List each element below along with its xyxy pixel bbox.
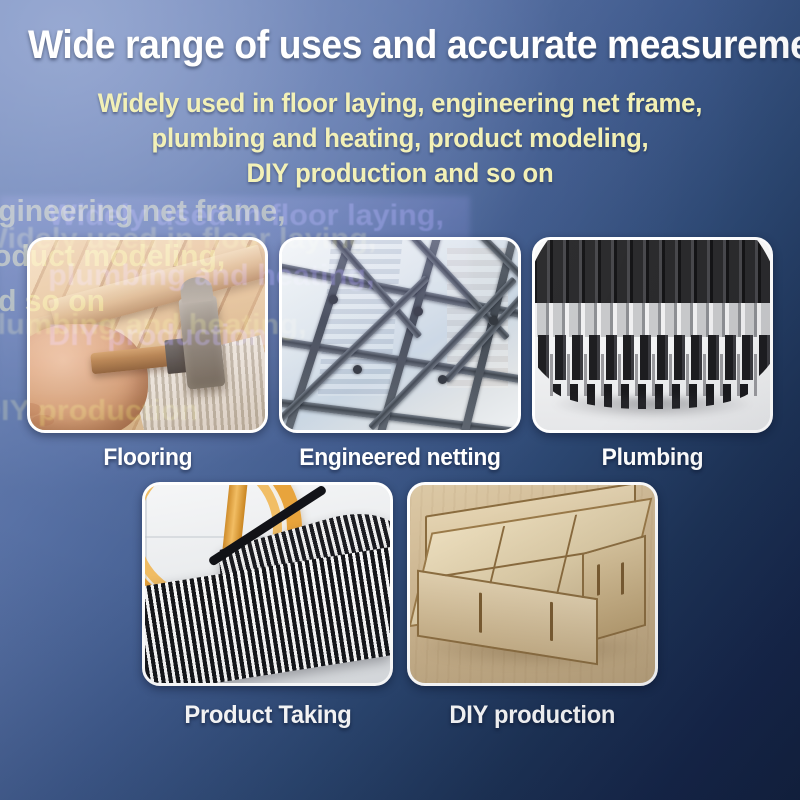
caption-engineered-netting: Engineered netting: [299, 444, 500, 472]
net-frame-photo: [282, 240, 517, 430]
caption-diy-production: DIY production: [450, 701, 616, 730]
plumbing-photo: [535, 240, 770, 430]
use-case-diy-production: DIY production: [407, 482, 658, 730]
diy-production-card[interactable]: [407, 482, 658, 686]
use-case-row-1: Flooring: [27, 237, 773, 472]
box-slot: [480, 593, 483, 633]
poster-headline: Wide range of uses and accurate measurem…: [28, 22, 772, 68]
truss-node: [414, 307, 423, 316]
diy-production-photo: [410, 485, 655, 683]
use-case-engineered-netting: Engineered netting: [279, 237, 520, 472]
flooring-card[interactable]: [27, 237, 268, 433]
caption-flooring: Flooring: [103, 444, 192, 472]
use-case-row-2: Product Taking: [142, 482, 658, 730]
box-slot: [551, 602, 554, 642]
box-slot: [597, 564, 600, 596]
caption-plumbing: Plumbing: [602, 444, 704, 472]
ghost-line: engineering net frame,: [0, 188, 285, 233]
subtitle-line-2: plumbing and heating, product modeling,: [20, 121, 780, 156]
subtitle-line-1: Widely used in floor laying, engineering…: [20, 86, 780, 121]
engineered-netting-card[interactable]: [279, 237, 520, 433]
pipe-bodies-upper: [535, 240, 770, 312]
poster-subtitle: Widely used in floor laying, engineering…: [20, 86, 780, 191]
product-taking-card[interactable]: [142, 482, 393, 686]
product-taking-photo: [145, 485, 390, 683]
use-case-plumbing: Plumbing: [532, 237, 773, 472]
caption-product-taking: Product Taking: [184, 701, 351, 730]
use-case-flooring: Flooring: [27, 237, 268, 472]
truss-node: [438, 375, 447, 384]
use-case-product-taking: Product Taking: [142, 482, 393, 730]
photo-shading: [30, 240, 265, 430]
pipe-bodies-middle: [535, 303, 770, 337]
promo-poster: Widely used in floor laying, plumbing an…: [0, 0, 800, 800]
plumbing-card[interactable]: [532, 237, 773, 433]
pipe-shadow: [553, 396, 751, 419]
flooring-photo: [30, 240, 265, 430]
box-slot: [621, 563, 624, 595]
subtitle-line-3: DIY production and so on: [20, 156, 780, 191]
